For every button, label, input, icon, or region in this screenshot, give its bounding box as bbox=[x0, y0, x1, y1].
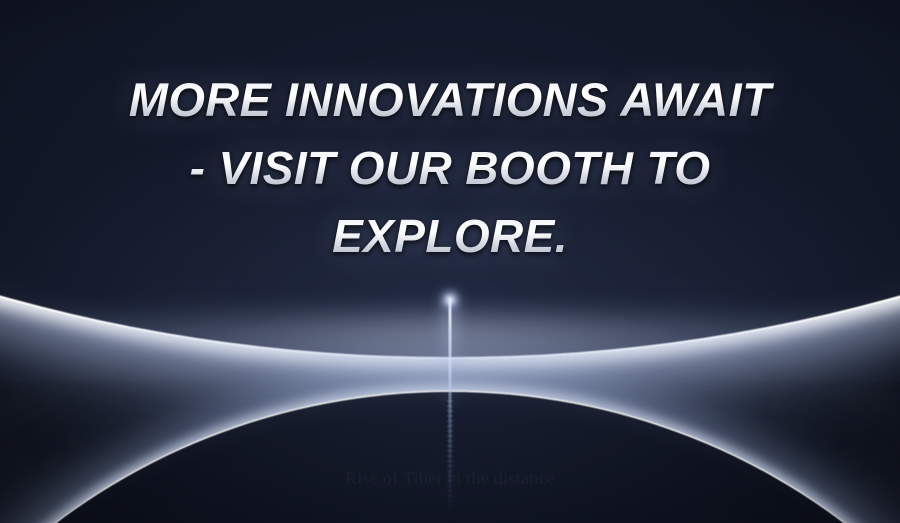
upper-arc-fill bbox=[0, 0, 900, 360]
promo-banner: MORE INNOVATIONS AWAIT - VISIT OUR BOOTH… bbox=[0, 0, 900, 523]
upper-arc-underglow bbox=[0, 318, 900, 508]
